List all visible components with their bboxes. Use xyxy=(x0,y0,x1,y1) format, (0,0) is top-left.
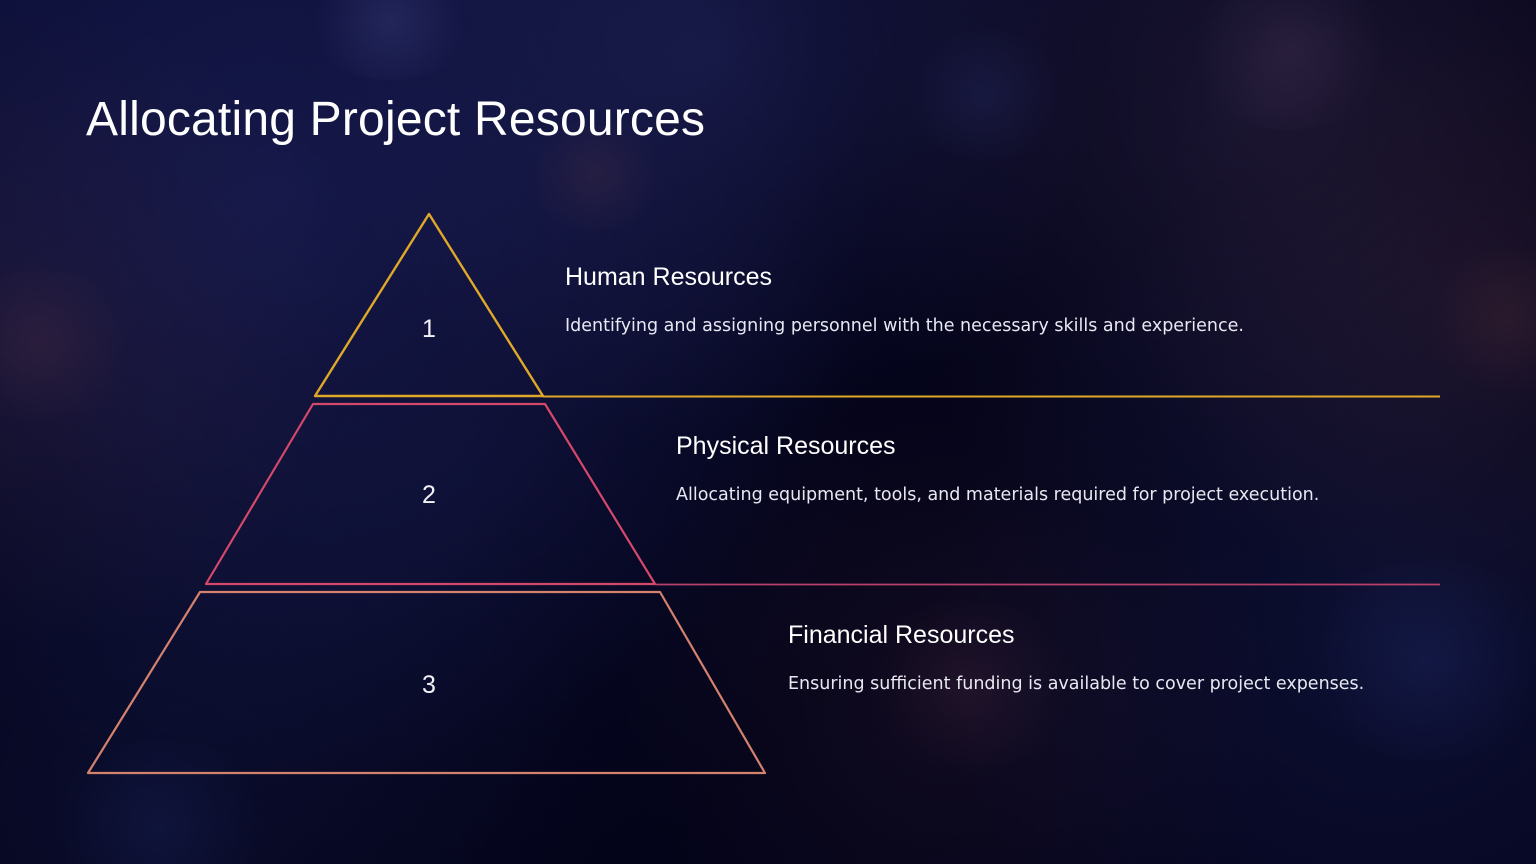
tier-1-text-block: Human Resources Identifying and assignin… xyxy=(565,262,1395,346)
pyramid-tier-2-number: 2 xyxy=(399,483,459,508)
tier-1-description: Identifying and assigning personnel with… xyxy=(565,306,1395,346)
tier-2-heading: Physical Resources xyxy=(676,431,1356,461)
tier-1-heading: Human Resources xyxy=(565,262,1395,292)
slide-canvas: Allocating Project Resources 1 2 3 Human… xyxy=(0,0,1536,864)
pyramid-tier-1-number: 1 xyxy=(399,317,459,342)
tier-2-text-block: Physical Resources Allocating equipment,… xyxy=(676,431,1356,515)
pyramid-tier-1-shape[interactable] xyxy=(315,214,543,396)
tier-3-text-block: Financial Resources Ensuring sufficient … xyxy=(788,620,1398,704)
tier-2-description: Allocating equipment, tools, and materia… xyxy=(676,475,1356,515)
tier-3-description: Ensuring sufficient funding is available… xyxy=(788,664,1398,704)
tier-3-heading: Financial Resources xyxy=(788,620,1398,650)
pyramid-tier-3-number: 3 xyxy=(399,673,459,698)
